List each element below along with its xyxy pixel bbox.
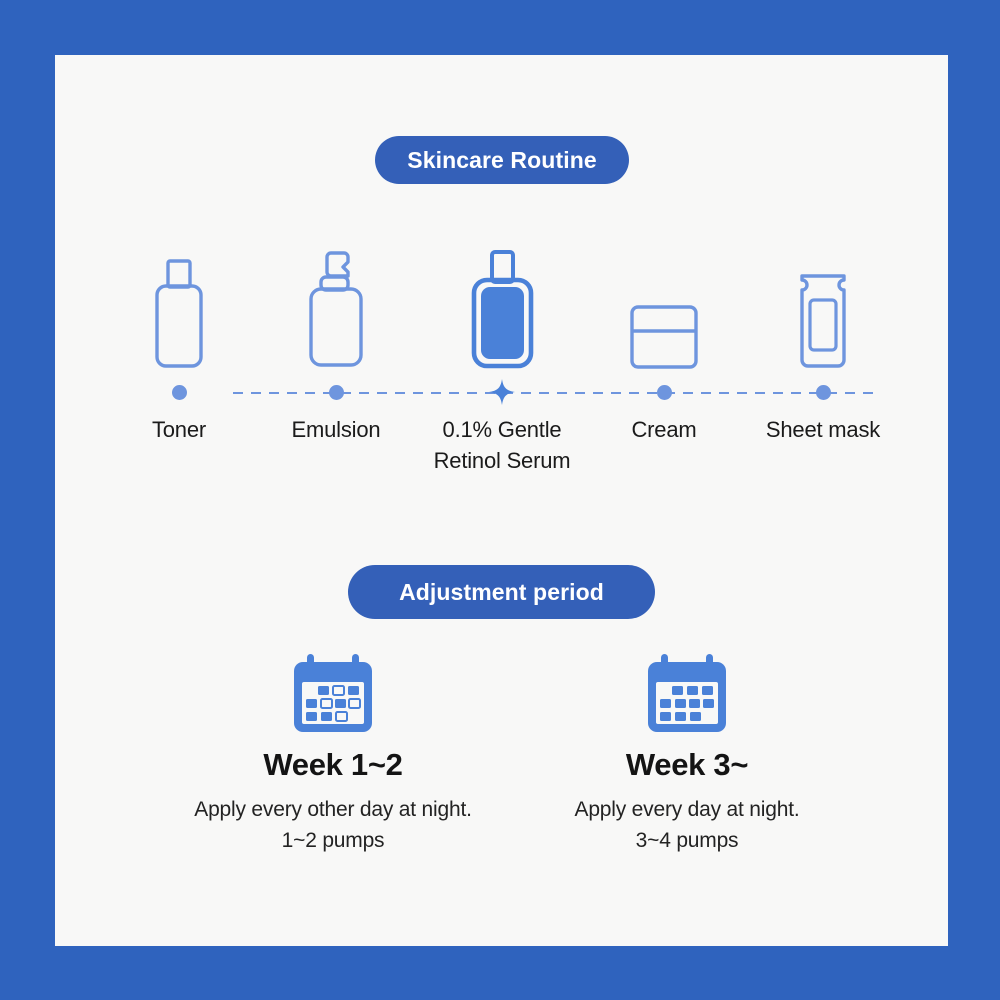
routine-step-label: 0.1% Gentle Retinol Serum xyxy=(422,414,582,476)
cream-timeline-marker xyxy=(584,370,744,414)
routine-step-emulsion[interactable]: Emulsion xyxy=(256,240,416,510)
routine-step-toner[interactable]: Toner xyxy=(99,240,259,510)
toner-bottle-icon xyxy=(99,240,259,370)
period-description: Apply every day at night. 3~4 pumps xyxy=(487,794,887,856)
period-title: Week 3~ xyxy=(487,747,887,783)
calendar-every-day-icon xyxy=(487,645,887,741)
routine-steps-row: Toner Emulsion xyxy=(55,240,948,510)
routine-step-cream[interactable]: Cream xyxy=(584,240,744,510)
serum-timeline-marker xyxy=(422,370,582,414)
dot-marker-icon xyxy=(329,385,344,400)
emulsion-timeline-marker xyxy=(256,370,416,414)
dot-marker-icon xyxy=(816,385,831,400)
dot-marker-icon xyxy=(657,385,672,400)
routine-badge-label: Skincare Routine xyxy=(407,147,597,174)
routine-step-label: Cream xyxy=(584,414,744,445)
calendar-alternate-days-icon xyxy=(133,645,533,741)
period-title: Week 1~2 xyxy=(133,747,533,783)
infographic-page: Skincare Routine Toner xyxy=(0,0,1000,1000)
adjustment-badge-label: Adjustment period xyxy=(399,579,604,606)
pump-bottle-icon xyxy=(256,240,416,370)
dot-marker-icon xyxy=(172,385,187,400)
cream-jar-icon xyxy=(584,240,744,370)
serum-bottle-icon xyxy=(422,240,582,370)
toner-timeline-marker xyxy=(99,370,259,414)
adjustment-periods-row: Week 1~2 Apply every other day at night.… xyxy=(55,645,948,915)
adjustment-section-badge: Adjustment period xyxy=(348,565,655,619)
routine-step-label: Toner xyxy=(99,414,259,445)
sheet-mask-pouch-icon xyxy=(743,240,903,370)
adjustment-period-week-1-2[interactable]: Week 1~2 Apply every other day at night.… xyxy=(133,645,533,856)
routine-section-badge: Skincare Routine xyxy=(375,136,629,184)
period-description: Apply every other day at night. 1~2 pump… xyxy=(133,794,533,856)
sheet-mask-timeline-marker xyxy=(743,370,903,414)
content-card: Skincare Routine Toner xyxy=(55,55,948,946)
adjustment-period-week-3-onward[interactable]: Week 3~ Apply every day at night. 3~4 pu… xyxy=(487,645,887,856)
routine-step-sheet-mask[interactable]: Sheet mask xyxy=(743,240,903,510)
routine-step-retinol-serum[interactable]: 0.1% Gentle Retinol Serum xyxy=(422,240,582,510)
routine-step-label: Sheet mask xyxy=(743,414,903,445)
routine-step-label: Emulsion xyxy=(256,414,416,445)
sparkle-marker-icon xyxy=(489,379,515,405)
